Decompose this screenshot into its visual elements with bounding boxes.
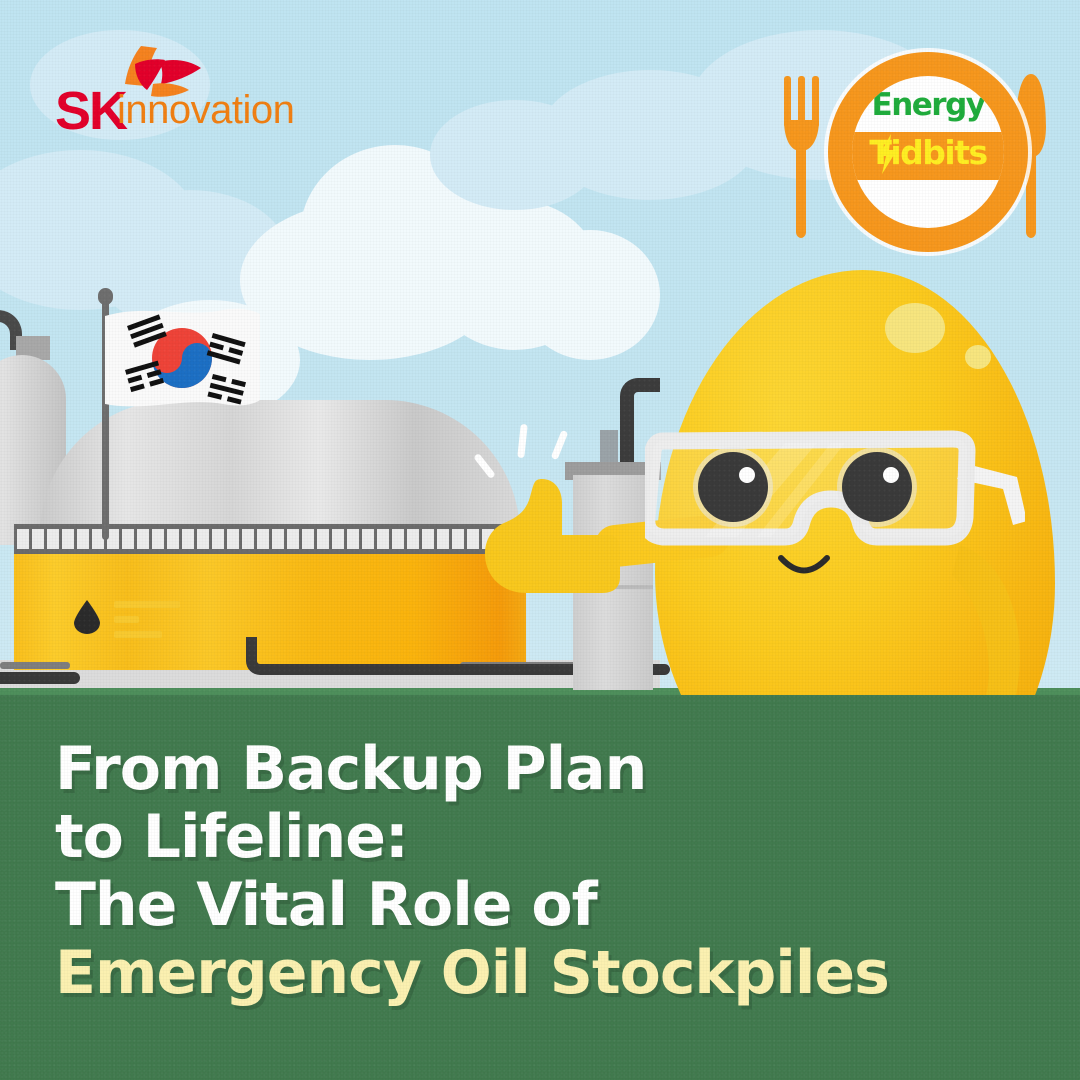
tank-label-line — [114, 631, 162, 638]
thumbs-up-icon — [480, 473, 620, 603]
plate-shape: Energy Tidbits — [828, 52, 1028, 252]
tank-dome — [40, 400, 520, 535]
tank-label-line — [114, 601, 180, 608]
tank-railing — [14, 524, 526, 554]
mascot-highlight — [965, 345, 991, 369]
poster-headline: From Backup Plan to Lifeline: The Vital … — [55, 735, 955, 1007]
tank-label-line — [114, 616, 139, 623]
safety-goggles-icon — [645, 425, 1025, 555]
oil-drop-icon — [74, 600, 100, 634]
south-korea-flag — [105, 308, 260, 418]
pipeline — [0, 672, 80, 684]
mascot-smile — [778, 555, 830, 581]
headline-line-4: Emergency Oil Stockpiles — [55, 939, 955, 1007]
flag-finial — [98, 288, 113, 305]
poster-canvas: From Backup Plan to Lifeline: The Vital … — [0, 0, 1080, 1080]
headline-line-1: From Backup Plan — [55, 735, 955, 803]
pipe-support — [0, 662, 70, 669]
sk-wordmark: SK — [55, 80, 126, 142]
sk-innovation-logo[interactable]: SK innovation — [55, 40, 315, 130]
lightning-bolt-icon — [877, 134, 899, 174]
sk-innovation-wordmark: innovation — [117, 88, 294, 133]
fork-icon — [780, 72, 824, 238]
energy-wordmark: Energy — [852, 90, 1004, 121]
headline-line-3: The Vital Role of — [55, 871, 955, 939]
headline-line-2: to Lifeline: — [55, 803, 955, 871]
railing-bars — [14, 529, 526, 549]
tidbits-wordmark: Tidbits — [852, 133, 1004, 173]
plate-inner: Energy Tidbits — [852, 76, 1004, 228]
mascot-highlight — [885, 303, 945, 353]
energy-tidbits-logo[interactable]: Energy Tidbits — [780, 52, 1048, 258]
